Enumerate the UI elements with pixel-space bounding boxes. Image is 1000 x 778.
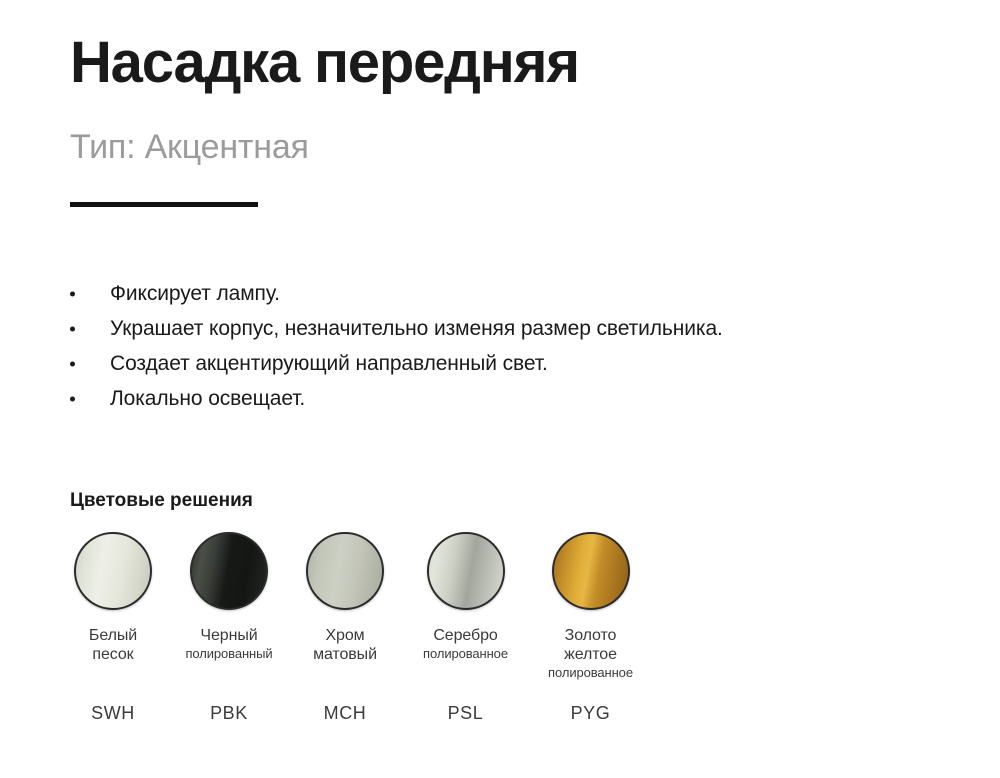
swatch-label-line1: Черный (185, 626, 272, 645)
list-item: Фиксирует лампу. (70, 276, 930, 311)
bullet-dot-icon (70, 396, 75, 401)
swatch-labels: Черный полированный (185, 626, 272, 662)
color-option-pyg[interactable]: Золото желтое полированное (528, 532, 653, 681)
feature-text: Локально освещает. (110, 386, 305, 412)
color-code-swh: SWH (91, 703, 135, 723)
swatch-label-line2: матовый (313, 645, 377, 664)
swatch-labels: Золото желтое полированное (548, 626, 633, 681)
color-options-heading: Цветовые решения (70, 490, 253, 512)
list-item: Локально освещает. (70, 381, 930, 416)
page-title: Насадка передняя (70, 32, 579, 94)
swatch-label-line1: Белый (89, 626, 137, 645)
page-subtitle-type: Тип: Акцентная (70, 128, 309, 166)
color-code-psl: PSL (448, 703, 484, 723)
color-code-pbk: PBK (210, 703, 248, 723)
swatch-label-line1: Золото (548, 626, 633, 645)
list-item: Создает акцентирующий направленный свет. (70, 346, 930, 381)
color-option-psl[interactable]: Серебро полированное (403, 532, 528, 681)
swatch-label-line1: Серебро (423, 626, 508, 645)
list-item: Украшает корпус, незначительно изменяя р… (70, 311, 930, 346)
swatch-label-line2: полированный (185, 645, 272, 662)
swatch-label-line3: полированное (548, 664, 633, 681)
bullet-dot-icon (70, 326, 75, 331)
color-option-mch[interactable]: Хром матовый (287, 532, 403, 681)
swatch-label-line2: желтое (548, 645, 633, 664)
color-code-pyg: PYG (571, 703, 611, 723)
swatch-circle-silver-polished[interactable] (427, 532, 505, 610)
swatch-label-line1: Хром (313, 626, 377, 645)
swatch-labels: Серебро полированное (423, 626, 508, 662)
color-option-pbk[interactable]: Черный полированный (171, 532, 287, 681)
color-code-row: SWH PBK MCH PSL PYG (55, 703, 675, 724)
swatch-circle-white-sand[interactable] (74, 532, 152, 610)
color-code-cell: PSL (403, 703, 528, 724)
feature-text: Фиксирует лампу. (110, 281, 280, 307)
swatch-circle-gold-yellow-polished[interactable] (552, 532, 630, 610)
product-spec-page: Насадка передняя Тип: Акцентная Фиксируе… (0, 0, 1000, 778)
color-code-cell: PBK (171, 703, 287, 724)
bullet-dot-icon (70, 291, 75, 296)
color-code-cell: SWH (55, 703, 171, 724)
feature-text: Украшает корпус, незначительно изменяя р… (110, 316, 723, 342)
swatch-circle-chrome-matte[interactable] (306, 532, 384, 610)
bullet-dot-icon (70, 361, 75, 366)
swatch-circle-black-polished[interactable] (190, 532, 268, 610)
swatch-labels: Хром матовый (313, 626, 377, 664)
color-code-cell: PYG (528, 703, 653, 724)
swatch-label-line2: полированное (423, 645, 508, 662)
title-divider (70, 202, 258, 207)
swatch-label-line2: песок (89, 645, 137, 664)
swatch-labels: Белый песок (89, 626, 137, 664)
color-code-cell: MCH (287, 703, 403, 724)
color-swatch-row: Белый песок Черный полированный Хром мат… (55, 532, 675, 681)
feature-text: Создает акцентирующий направленный свет. (110, 351, 548, 377)
color-code-mch: MCH (324, 703, 367, 723)
feature-list: Фиксирует лампу. Украшает корпус, незнач… (70, 276, 930, 416)
color-option-swh[interactable]: Белый песок (55, 532, 171, 681)
